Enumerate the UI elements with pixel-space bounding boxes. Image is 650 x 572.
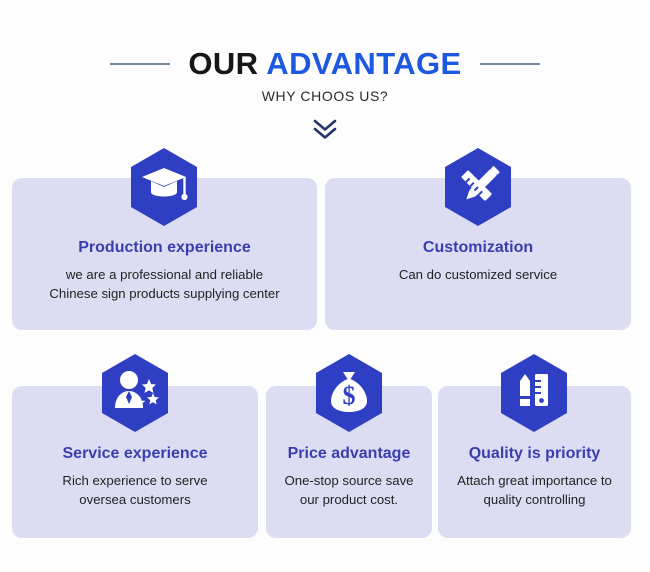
page-title-word-advantage: ADVANTAGE [266, 46, 461, 81]
card-description-line: quality controlling [446, 491, 623, 510]
double-chevron-down-icon [312, 118, 338, 147]
scroll-hint [0, 118, 650, 147]
card-content: Quality is priority Attach great importa… [438, 444, 631, 510]
title-divider-left [110, 63, 170, 65]
graduation-cap-icon [127, 146, 201, 228]
page-title-text: OUR ADVANTAGE [188, 48, 461, 79]
pencil-ruler-icon [497, 352, 571, 434]
card-title: Production experience [20, 238, 309, 257]
card-description-line: Can do customized service [333, 266, 623, 285]
card-description-line: Chinese sign products supplying center [20, 285, 309, 304]
card-content: Price advantage One-stop source save our… [266, 444, 432, 510]
page-title-word-our: OUR [188, 46, 266, 81]
card-description-line: Rich experience to serve [20, 472, 250, 491]
card-content: Customization Can do customized service [325, 238, 631, 285]
card-content: Service experience Rich experience to se… [12, 444, 258, 510]
svg-text:$: $ [343, 381, 356, 410]
card-description-line: oversea customers [20, 491, 250, 510]
card-title: Quality is priority [446, 444, 623, 463]
title-divider-right [480, 63, 540, 65]
card-description-line: Attach great importance to [446, 472, 623, 491]
page-subtitle: WHY CHOOS US? [0, 88, 650, 104]
card-title: Service experience [20, 444, 250, 463]
person-stars-icon [98, 352, 172, 434]
card-description-line: our product cost. [274, 491, 424, 510]
card-content: Production experience we are a professio… [12, 238, 317, 304]
page-title: OUR ADVANTAGE [0, 48, 650, 79]
card-description-line: we are a professional and reliable [20, 266, 309, 285]
pencil-ruler-cross-icon [441, 146, 515, 228]
card-title: Price advantage [274, 444, 424, 463]
page-header: OUR ADVANTAGE WHY CHOOS US? [0, 0, 650, 148]
money-bag-icon: $ [312, 352, 386, 434]
card-title: Customization [333, 238, 623, 257]
card-description-line: One-stop source save [274, 472, 424, 491]
